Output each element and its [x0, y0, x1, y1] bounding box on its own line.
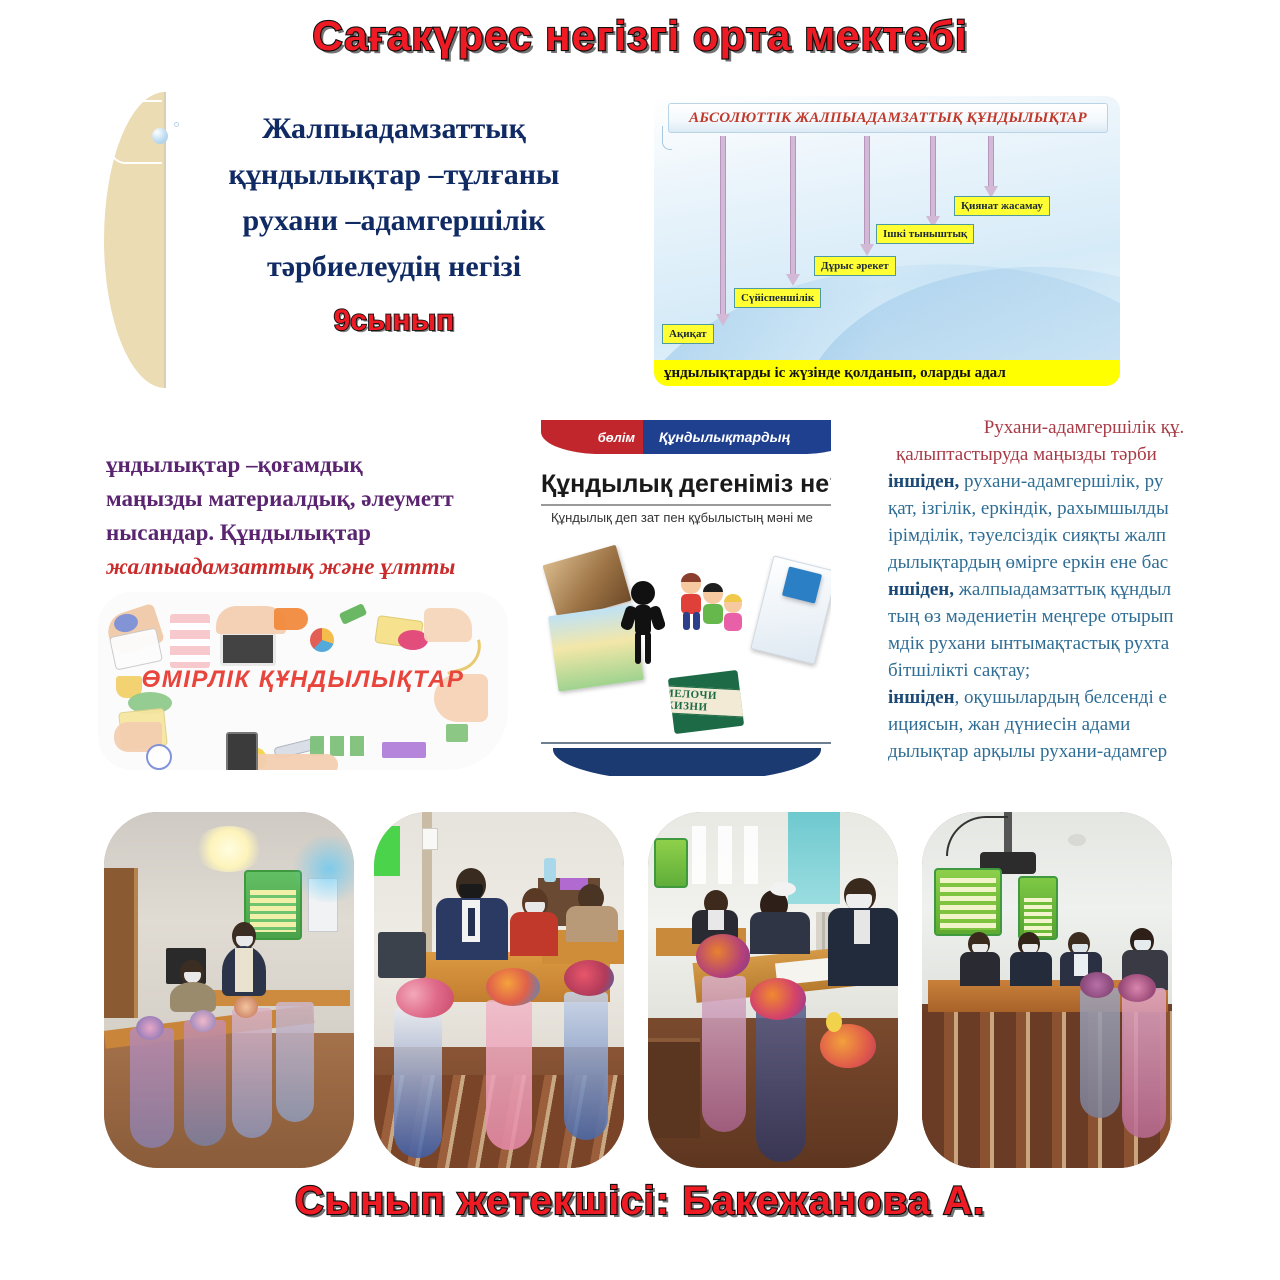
flower-3-left [696, 934, 750, 978]
right-text-body: іншіден, рухани-адамгершілік, руқат, ізг… [888, 468, 1280, 764]
sanitizer-bottle [544, 858, 556, 882]
flower-bouquet-right [564, 960, 614, 996]
doodle-clock [146, 744, 172, 770]
doodle-tablet-icon [226, 732, 258, 770]
arrow-2 [786, 136, 800, 286]
person-shirt [235, 948, 253, 992]
right-text-line-rest: жалпыадамзаттық құндыл [954, 579, 1171, 600]
ribbon-topic-label: Құндылықтардың [643, 420, 831, 454]
right-text-line-5: ншіден, жалпыадамзаттық құндыл [888, 576, 1280, 603]
laptop [378, 932, 426, 978]
student-hair-bow [770, 882, 796, 896]
arrow-shaft [864, 136, 870, 244]
classroom-photo-2 [374, 812, 624, 1168]
right-text-line-1: іншіден, рухани-адамгершілік, ру [888, 468, 1280, 495]
ribbon-section-label: бөлім [541, 420, 643, 454]
flower-4-far-right [1118, 974, 1156, 1002]
arrow-shaft [790, 136, 796, 274]
diagram-header: АБСОЛЮТТІК ЖАЛПЫАДАМЗАТТЫҚ ҚҰНДЫЛЫҚТАР [668, 103, 1108, 133]
arrow-5 [984, 136, 998, 198]
heading-line-3: рухани –адамгершілік [166, 198, 622, 244]
chair-bow-1 [130, 1028, 174, 1148]
doodle-hand-right-white [424, 608, 472, 642]
arrow-shaft [930, 136, 936, 216]
flower-3-center [750, 978, 806, 1020]
values-line-4-accent: жалпыадамзаттық және ұлтты [106, 550, 518, 584]
class-teacher-caption: Сынып жетекшісі: Бакежанова А. [0, 1178, 1280, 1224]
bow-right-blue [564, 992, 608, 1140]
happy-kids-illustration [669, 572, 747, 634]
what-is-value-slide: бөлім Құндылықтардың Құндылық дегеніміз … [541, 412, 831, 776]
right-text-red-line-2: қалыптастыруда маңызды тәрби [888, 441, 1280, 468]
doodle-pie-chart [310, 628, 334, 652]
doodle-hands-bottom-center [246, 754, 338, 770]
right-text-line-rest: мдік рухани ынтымақтастық рухта [888, 633, 1169, 654]
student-collar-4c [1074, 954, 1088, 976]
arrow-shaft [720, 136, 726, 314]
student-body-center [750, 912, 810, 954]
bow-3-center [756, 1002, 806, 1162]
question-heading: Құндылық дегеніміз не? [541, 470, 831, 499]
doodle-laptop [220, 632, 276, 666]
right-text-line-3: ірімділік, тәуелсіздік сияқты жалп [888, 522, 1280, 549]
teacher-shirt-right [854, 910, 870, 944]
hook-decoration [662, 126, 672, 150]
right-text-line-2: қат, ізгілік, еркіндік, рахымшылды [888, 495, 1280, 522]
right-text-line-9: іншіден, оқушылардың белсенді е [888, 684, 1280, 711]
right-text-line-rest: рухани-адамгершілік, ру [959, 471, 1163, 492]
right-text-line-bold: іншіден, [888, 471, 959, 492]
flower-1 [136, 1016, 164, 1040]
omirlik-kundylyktar-label: ӨМІРЛІК ҚҰНДЫЛЫҚТАР [98, 666, 508, 694]
right-text-line-7: мдік рухани ынтымақтастық рухта [888, 630, 1280, 657]
arrow-head [786, 274, 800, 286]
section-ribbon: бөлім Құндылықтардың [541, 420, 831, 454]
flower-4-right [1080, 972, 1114, 998]
spiritual-moral-values-text: Рухани-адамгершілік құ. қалыптастыруда м… [888, 414, 1280, 764]
window-light-2 [718, 826, 732, 884]
classroom-photo-4 [922, 812, 1172, 1168]
third-person-coat [566, 906, 618, 942]
doodle-green-sticky-right [446, 724, 468, 742]
blue-glow [290, 836, 354, 902]
bow-3-left [702, 976, 746, 1132]
flower-3-right [820, 1024, 876, 1068]
student-body-4a [960, 952, 1000, 986]
wall-board-green-3 [654, 838, 688, 888]
values-line-5: болып екіге бөлінеді. [106, 584, 518, 588]
value-box-akikat: Ақиқат [662, 324, 714, 344]
grade-label: 9сынып [166, 304, 622, 338]
boy-tie [468, 908, 475, 936]
yellow-rose-3 [826, 1012, 842, 1032]
right-text-line-rest: дылықтардың өмірге еркін ене бас [888, 552, 1168, 573]
right-text-line-6: тың өз мәдениетін меңгере отырып [888, 603, 1280, 630]
bow-4-far-right [1122, 988, 1166, 1138]
photo-door [104, 868, 138, 1018]
values-definition-text: ұндылықтар –қоғамдық маңызды материалдық… [106, 448, 518, 588]
question-subtitle: Құндылық деп зат пен құбылыстың мәні ме [551, 510, 831, 525]
bow-center-pink [486, 1000, 532, 1150]
right-text-line-8: бітшілікті сақтау; [888, 657, 1280, 684]
bow-left-blue [394, 1008, 442, 1158]
wall-paper-note [422, 828, 438, 850]
smoke-detector-icon [1068, 834, 1086, 846]
wall-board-small-inner [1024, 898, 1052, 936]
arrow-head [860, 244, 874, 256]
right-text-line-11: дылықтар арқылы рухани-адамгер [888, 738, 1280, 764]
right-text-line-rest: ірімділік, тәуелсіздік сияқты жалп [888, 525, 1166, 546]
chair-wood-3 [648, 1038, 700, 1138]
chair-bow-4 [276, 1002, 314, 1122]
heading-line-1: Жалпыадамзаттық [166, 106, 622, 152]
right-text-red-line-1: Рухани-адамгершілік құ. [888, 414, 1280, 441]
right-text-line-bold: іншіден [888, 687, 955, 708]
title-slide: Жалпыадамзаттық құндылықтар –тұлғаны рух… [104, 92, 624, 388]
arrow-3 [860, 136, 874, 256]
student-collar-left [708, 910, 724, 930]
heading-line-2: құндылықтар –тұлғаны [166, 152, 622, 198]
life-values-illustration-banner: ӨМІРЛІК ҚҰНДЫЛЫҚТАР [98, 592, 508, 770]
chair-bow-3 [232, 1008, 272, 1138]
right-text-line-rest: қат, ізгілік, еркіндік, рахымшылды [888, 498, 1169, 519]
doodle-sticky-notes [170, 614, 210, 668]
values-line-1: ұндылықтар –қоғамдық [106, 448, 518, 482]
arrow-4 [926, 136, 940, 228]
doodle-flowchart-green [310, 736, 366, 756]
right-text-line-rest: тың өз мәдениетін меңгере отырып [888, 606, 1174, 627]
right-text-line-10: ициясын, жан дүниесін адами [888, 711, 1280, 738]
wall-board-large-inner [940, 878, 996, 930]
student-body-4b [1010, 952, 1052, 986]
right-text-line-rest: ициясын, жан дүниесін адами [888, 714, 1130, 735]
flower-3 [234, 996, 258, 1018]
arrow-head [716, 314, 730, 326]
value-box-suyispenshilik: Сүйіспеншілік [734, 288, 821, 308]
arrow-shaft [988, 136, 994, 186]
title-slide-heading: Жалпыадамзаттық құндылықтар –тұлғаны рух… [166, 106, 622, 290]
heading-rule [541, 504, 831, 506]
flower-bouquet-left [396, 978, 454, 1018]
right-text-line-rest: , оқушылардың белсенді е [955, 687, 1167, 708]
absolute-values-diagram-slide: АБСОЛЮТТІК ЖАЛПЫАДАМЗАТТЫҚ ҚҰНДЫЛЫҚТАР А… [654, 96, 1120, 386]
flower-bouquet-center [486, 968, 540, 1006]
logo-band-text: МЕЛОЧИ ЖИЗНИ [668, 685, 744, 718]
classroom-photo-1 [104, 812, 354, 1168]
slide-bottom-arc [553, 748, 821, 776]
right-text-line-rest: дылықтар арқылы рухани-адамгер [888, 741, 1167, 762]
arrow-1 [716, 136, 730, 326]
right-text-line-bold: ншіден, [888, 579, 954, 600]
melochi-zhizni-logo: МЕЛОЧИ ЖИЗНИ [668, 670, 744, 734]
doodle-green-marker [339, 603, 368, 625]
right-text-line-4: дылықтардың өмірге еркін ене бас [888, 549, 1280, 576]
person-body-seated [170, 982, 216, 1012]
window-light-1 [692, 826, 706, 884]
flower-2 [190, 1010, 216, 1032]
diagram-bottom-banner: ұндылықтарды іс жүзінде қолданып, оларды… [654, 360, 1120, 386]
chair-bow-2 [184, 1020, 226, 1146]
heading-line-4: тәрбиелеудің негізі [166, 244, 622, 290]
slide-bottom-rule [541, 742, 831, 744]
classroom-photo-3 [648, 812, 898, 1168]
stick-figure-icon [621, 580, 665, 666]
value-box-kiyanat-zhasamau: Қиянат жасамау [954, 196, 1050, 216]
values-line-3: нысандар. Құндылықтар [106, 516, 518, 550]
window-light-3 [744, 826, 758, 884]
doodle-orange-sleeve [274, 608, 308, 630]
value-box-ishki-tynyshtyk: Ішкі тыныштық [876, 224, 974, 244]
bow-4-right-grey [1080, 988, 1120, 1118]
ceiling-lamp-icon [194, 826, 264, 872]
values-line-2: маңызды материалдық, әлеуметт [106, 482, 518, 516]
girl-vest [510, 912, 558, 956]
wall-green-poster [374, 826, 400, 876]
right-text-line-rest: бітшілікті сақтау; [888, 660, 1030, 681]
value-box-durys-areket: Дұрыс әрекет [814, 256, 896, 276]
doodle-purple-bar [382, 742, 426, 758]
page-title: Сағакүрес негізгі орта мектебі [0, 12, 1280, 60]
